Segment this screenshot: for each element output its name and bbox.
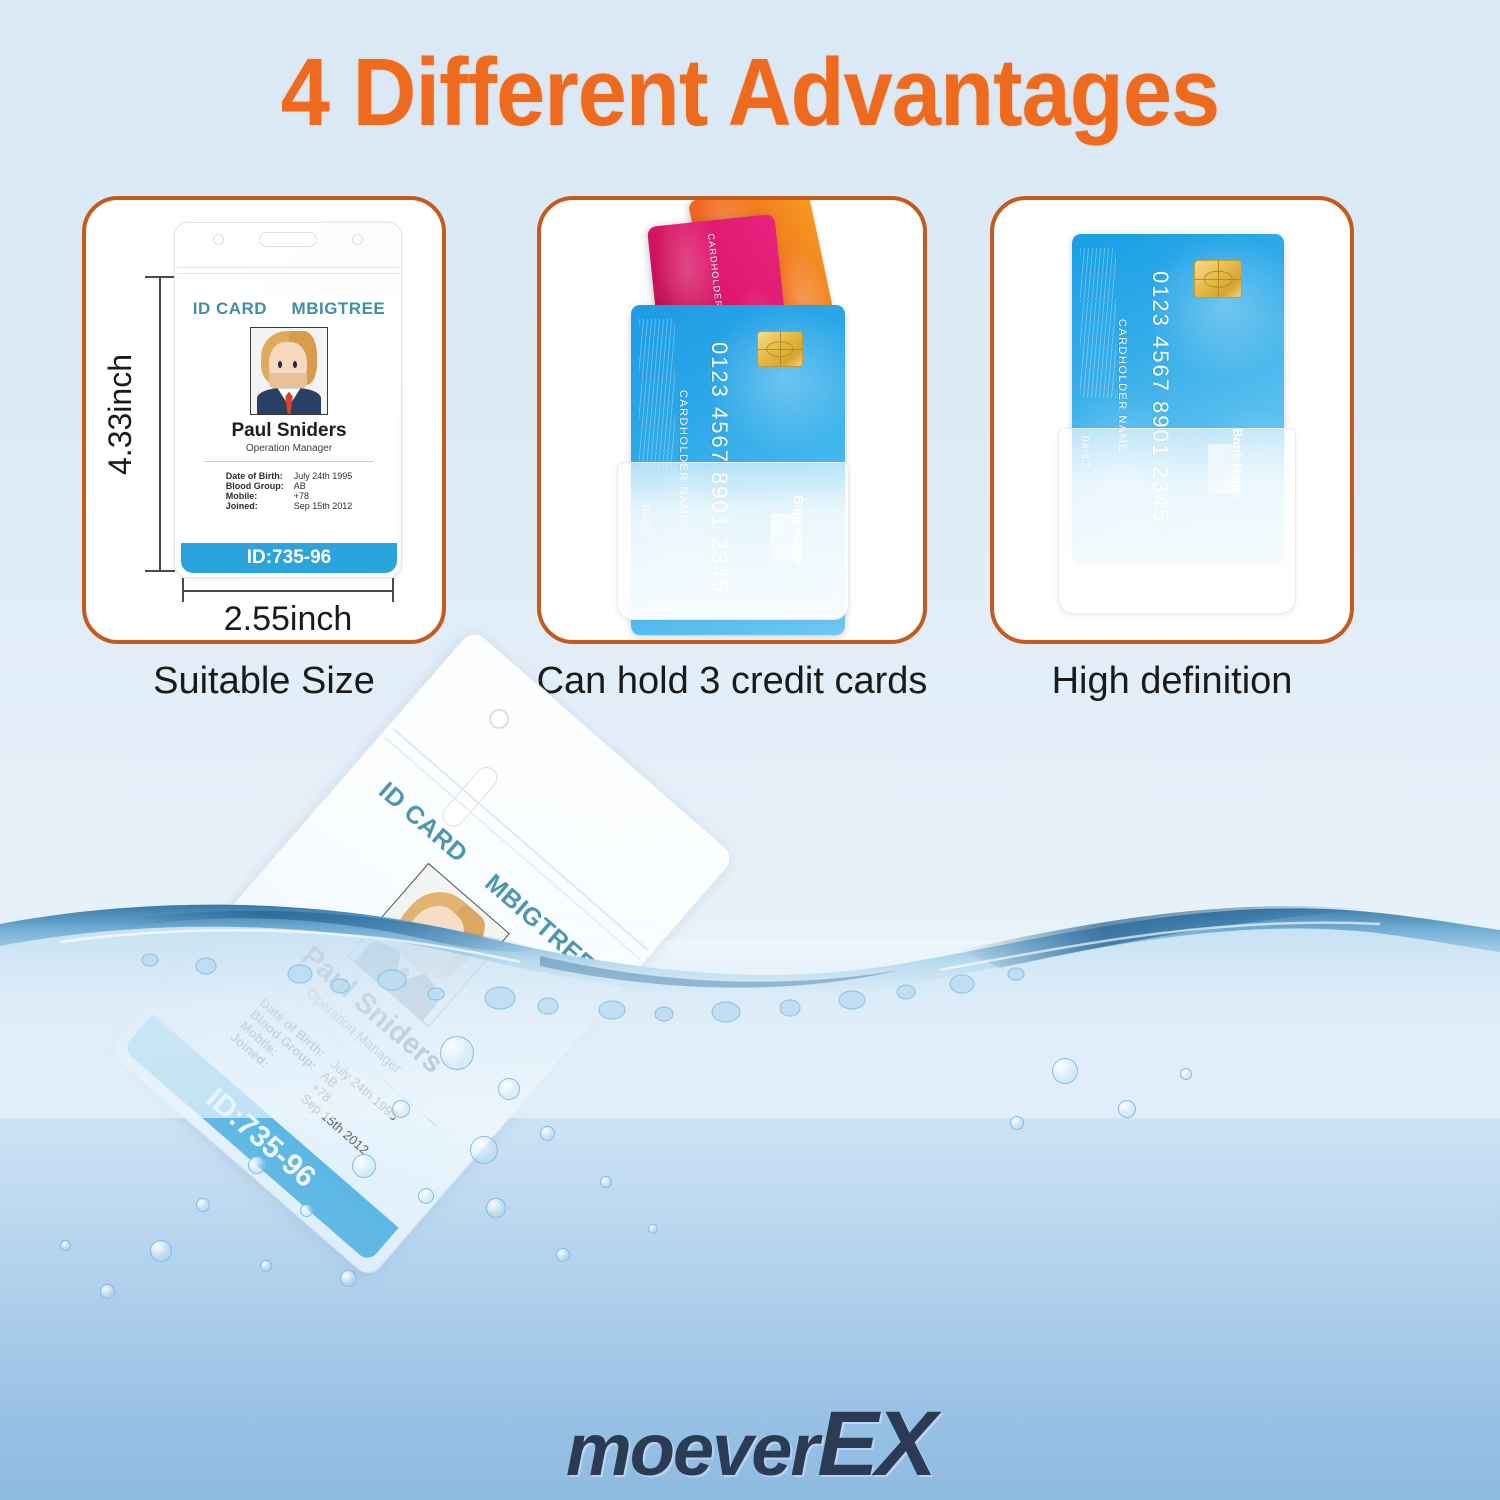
dimension-width-line (182, 590, 394, 592)
card-guilloche (639, 319, 675, 469)
dimension-height-label: 4.33inch (102, 354, 139, 475)
bubble (1010, 1116, 1024, 1130)
dimension-height-tick-top (145, 276, 175, 278)
emv-chip-ring (1204, 271, 1233, 288)
bubble (470, 1136, 498, 1164)
sleeve-slot (259, 232, 317, 247)
bubble (498, 1078, 520, 1100)
bubble (648, 1224, 658, 1234)
dimension-height-line (159, 276, 161, 572)
id-card-header: ID CARD MBIGTREE (181, 299, 397, 319)
id-card-role: Operation Manager (181, 443, 397, 454)
advantage-panel-high-definition: 0123 4567 8901 2345 CARDHOLDER NAME 04/1… (990, 196, 1354, 644)
emv-chip-icon (757, 331, 803, 367)
bubble (340, 1270, 357, 1287)
bubble (352, 1154, 376, 1178)
dimension-width-label: 2.55inch (182, 600, 394, 639)
panel-caption-three-cards: Can hold 3 credit cards (517, 660, 947, 703)
sleeve-hole-right (352, 234, 363, 245)
id-card-fields: Date of Birth: July 24th 1995 Blood Grou… (226, 471, 353, 511)
bubble (60, 1240, 71, 1251)
id-card-header-right: MBIGTREE (292, 299, 386, 318)
panel-caption-high-definition: High definition (990, 660, 1354, 703)
bubble (100, 1284, 115, 1299)
field-key: Joined: (226, 501, 294, 511)
id-card: ID CARD MBIGTREE Paul Sniders Operation … (181, 295, 397, 573)
brand-logo-main: moever (566, 1408, 817, 1491)
bubble (556, 1248, 570, 1262)
id-card-field-row: Joined: Sep 15th 2012 (226, 501, 353, 511)
field-value: Sep 15th 2012 (294, 501, 353, 511)
card-pocket (617, 462, 849, 620)
dimension-height-tick-bottom (145, 570, 175, 572)
field-key: Mobile: (226, 491, 294, 501)
dimension-width-tick-right (392, 578, 394, 602)
bubble (260, 1260, 272, 1272)
id-card-name: Paul Sniders (181, 420, 397, 442)
sleeve-seam-lower (177, 273, 399, 274)
brand-logo: moeverEX (0, 1392, 1500, 1497)
bubble (1118, 1100, 1136, 1118)
bubble (392, 1100, 410, 1118)
bubble (600, 1176, 612, 1188)
id-card-field-row: Mobile: +78 (226, 491, 353, 501)
field-value: AB (294, 481, 353, 491)
sleeve-seam-upper (177, 267, 399, 268)
id-card-field-row: Blood Group: AB (226, 481, 353, 491)
id-card-id-band: ID:735-96 (181, 543, 397, 573)
sleeve-hole-left (213, 234, 224, 245)
bubble (300, 1204, 313, 1217)
bubble (1180, 1068, 1192, 1080)
panel-caption-suitable-size: Suitable Size (82, 660, 446, 703)
field-key: Date of Birth: (226, 471, 294, 481)
card-pocket (1058, 428, 1296, 614)
field-key: Blood Group: (226, 481, 294, 491)
brand-logo-suffix: EX (817, 1393, 934, 1495)
card-guilloche (1080, 248, 1116, 398)
id-card-field-row: Date of Birth: July 24th 1995 (226, 471, 353, 481)
badge-sleeve: ID CARD MBIGTREE Paul Sniders Operation … (174, 222, 402, 578)
dimension-width-tick-left (182, 578, 184, 602)
id-card-photo (250, 327, 328, 415)
emv-chip-ring (766, 341, 793, 357)
bubble (486, 1198, 506, 1218)
bubble (1052, 1058, 1078, 1084)
page-title: 4 Different Advantages (60, 38, 1440, 148)
bubble (440, 1036, 474, 1070)
sleeve-top-holes (175, 223, 401, 257)
bubble (196, 1198, 210, 1212)
id-card-header-left: ID CARD (193, 299, 267, 318)
advantage-panel-three-cards: CARDHOLDER NAME 0123 4567 8901 2345 CARD… (537, 196, 927, 644)
bubble (150, 1240, 172, 1262)
field-value: July 24th 1995 (294, 471, 353, 481)
id-card-divider (204, 461, 374, 462)
field-value: +78 (294, 491, 353, 501)
bubble (540, 1126, 555, 1141)
water-bubbles (0, 940, 1500, 1360)
bubble (418, 1188, 434, 1204)
emv-chip-icon (1194, 260, 1242, 298)
bubble (248, 1156, 266, 1174)
advantage-panel-suitable-size: 4.33inch 2.55inch ID CARD MBIGTREE (82, 196, 446, 644)
